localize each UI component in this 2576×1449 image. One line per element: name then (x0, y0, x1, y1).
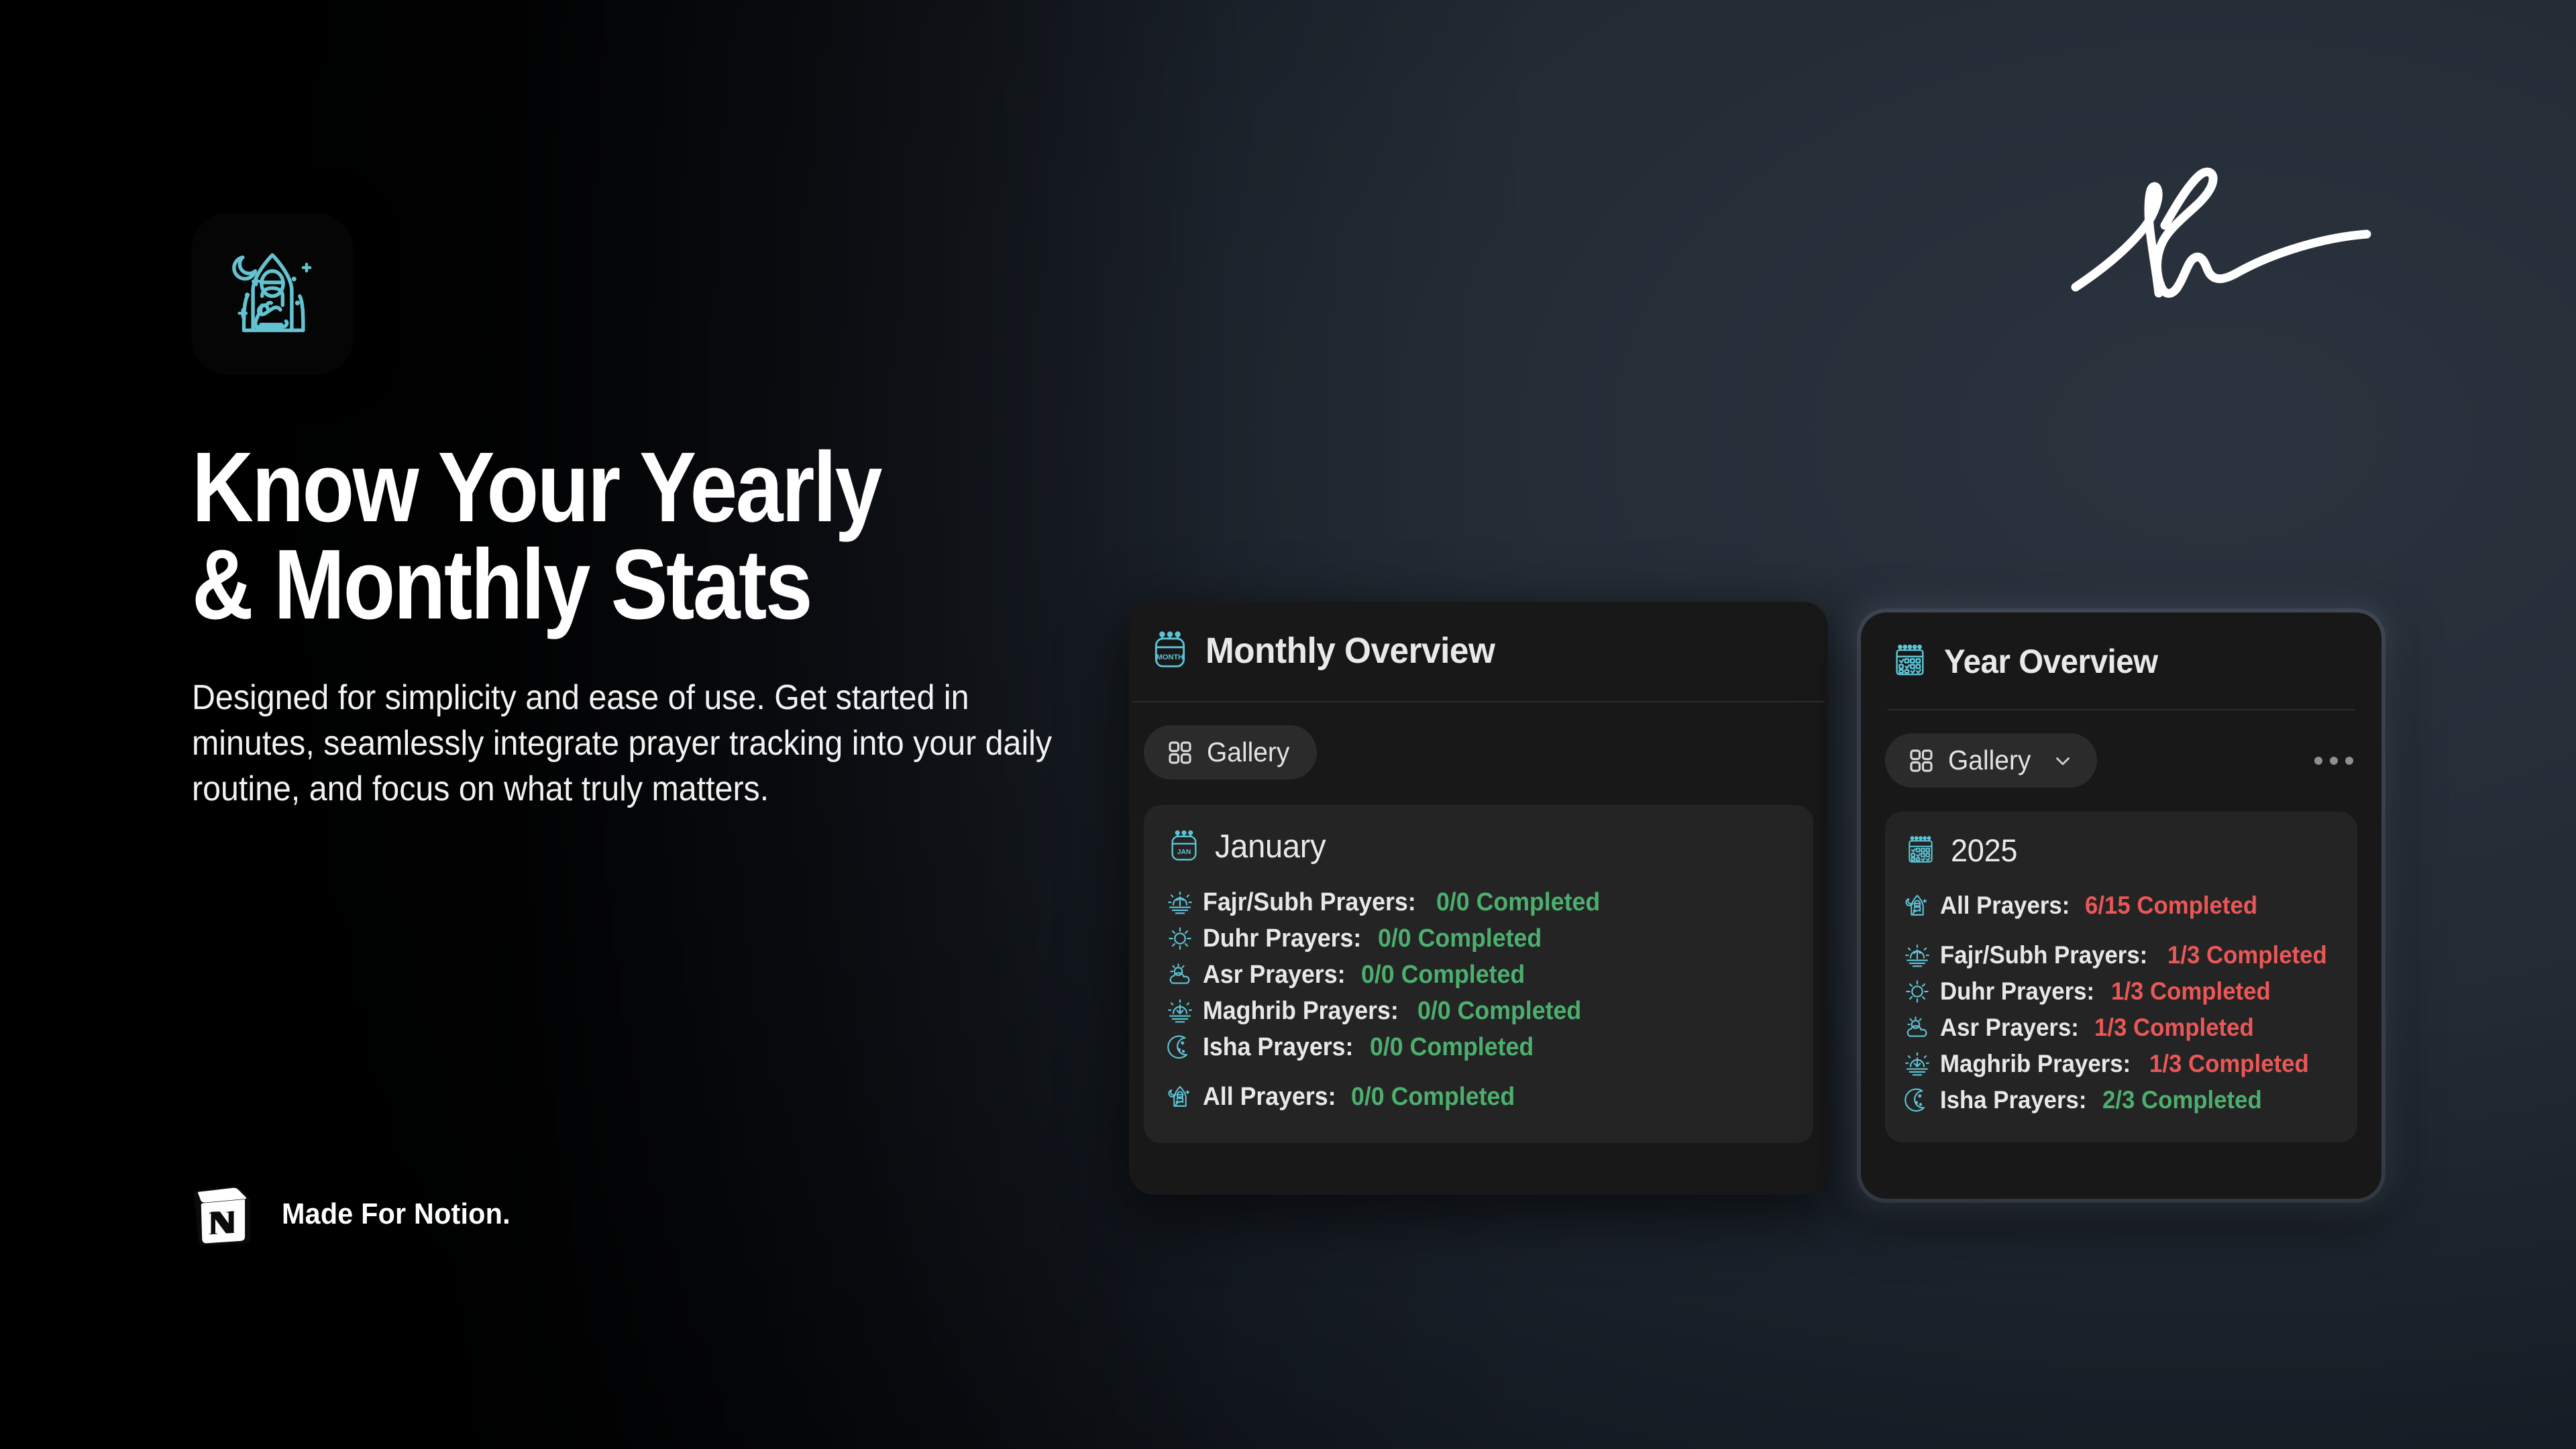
prayer-row: Fajr/Subh Prayers: 1/3 Completed (1904, 937, 2339, 973)
prayer-row: Fajr/Subh Prayers: 0/0 Completed (1167, 884, 1790, 920)
crescent-moon-icon (1167, 1034, 1193, 1061)
prayer-value: 2/3 Completed (2102, 1086, 2262, 1114)
year-2025-card[interactable]: 2025 All Prayers: 6/15 Completed (1885, 812, 2357, 1142)
year-panel-header: Year Overview (1861, 612, 2381, 681)
prayer-row: Maghrib Prayers: 0/0 Completed (1167, 993, 1790, 1029)
prayer-label: Asr Prayers: (1203, 961, 1345, 989)
prayer-label: Duhr Prayers: (1940, 977, 2094, 1006)
row-spacer (1167, 1065, 1790, 1079)
crescent-moon-icon (1904, 1087, 1931, 1114)
prayer-value: 0/0 Completed (1417, 997, 1581, 1026)
sun-cloud-icon (1167, 961, 1193, 988)
row-spacer (1904, 924, 2339, 937)
sunset-icon (1167, 998, 1193, 1024)
handwritten-signature-icon (2051, 156, 2400, 303)
monthly-panel-header: MONTH Monthly Overview (1129, 602, 1828, 672)
prayer-label: Isha Prayers: (1940, 1086, 2086, 1114)
year-panel-title: Year Overview (1944, 642, 2158, 681)
prayer-value: 1/3 Completed (2094, 1014, 2254, 1042)
prayer-label: Maghrib Prayers: (1203, 997, 1399, 1026)
monthly-gallery-label: Gallery (1207, 737, 1289, 768)
gallery-grid-icon (1908, 747, 1935, 774)
prayer-row: Isha Prayers: 0/0 Completed (1167, 1029, 1790, 1065)
jan-calendar-icon: JAN (1167, 829, 1201, 864)
prayer-row: All Prayers: 0/0 Completed (1167, 1079, 1790, 1115)
year-2025-card-title: 2025 (1951, 832, 2017, 869)
prayer-value: 0/0 Completed (1351, 1083, 1515, 1112)
mosque-person-icon (1904, 892, 1931, 919)
year-prayer-rows: All Prayers: 6/15 Completed Fajr/Subh Pr… (1904, 888, 2339, 1118)
prayer-value: 1/3 Completed (2149, 1050, 2309, 1078)
year-calendar-icon (1890, 642, 1929, 681)
year-2025-card-header: 2025 (1904, 832, 2339, 869)
year-panel-toolbar: Gallery (1861, 710, 2381, 788)
sun-icon (1167, 925, 1193, 952)
mosque-person-icon (1167, 1083, 1193, 1110)
prayer-label: Asr Prayers: (1940, 1014, 2079, 1042)
praying-person-mosque-icon (215, 237, 329, 351)
svg-text:JAN: JAN (1177, 849, 1191, 856)
prayer-value: 0/0 Completed (1378, 924, 1542, 953)
prayer-row: Isha Prayers: 2/3 Completed (1904, 1082, 2339, 1118)
prayer-row: Asr Prayers: 0/0 Completed (1167, 957, 1790, 993)
monthly-panel-toolbar: Gallery (1129, 702, 1828, 780)
year-gallery-view-button[interactable]: Gallery (1885, 733, 2097, 788)
prayer-label: Fajr/Subh Prayers: (1940, 941, 2147, 969)
monthly-overview-panel: MONTH Monthly Overview Gallery JAN Jan (1129, 602, 1828, 1195)
january-prayer-rows: Fajr/Subh Prayers: 0/0 Completed Duhr Pr… (1167, 884, 1790, 1115)
sun-icon (1904, 978, 1931, 1005)
january-card-header: JAN January (1167, 828, 1790, 865)
prayer-value: 0/0 Completed (1370, 1033, 1534, 1062)
year-gallery-label: Gallery (1948, 745, 2031, 776)
prayer-value: 1/3 Completed (2111, 977, 2271, 1006)
prayer-row: Duhr Prayers: 0/0 Completed (1167, 920, 1790, 957)
prayer-label: All Prayers: (1940, 892, 2070, 920)
sun-cloud-icon (1904, 1014, 1931, 1041)
gallery-grid-icon (1167, 739, 1193, 766)
monthly-gallery-view-button[interactable]: Gallery (1144, 725, 1317, 780)
prayer-value: 0/0 Completed (1361, 961, 1525, 989)
made-for-notion-badge: Made For Notion. (192, 1182, 525, 1246)
sunrise-icon (1167, 889, 1193, 916)
january-card-title: January (1215, 828, 1326, 865)
year-overview-panel: Year Overview Gallery (1861, 612, 2381, 1199)
more-options-icon[interactable] (2314, 757, 2357, 765)
svg-text:MONTH: MONTH (1157, 653, 1183, 661)
january-card[interactable]: JAN January Fajr/Subh Prayers: 0/0 Compl… (1144, 805, 1813, 1143)
prayer-row: Maghrib Prayers: 1/3 Completed (1904, 1046, 2339, 1082)
page-title: Know Your Yearly & Monthly Stats (192, 439, 1000, 633)
month-calendar-icon: MONTH (1149, 630, 1191, 672)
hero-section: Know Your Yearly & Monthly Stats Designe… (192, 213, 1131, 812)
sunset-icon (1904, 1051, 1931, 1077)
prayer-row: All Prayers: 6/15 Completed (1904, 888, 2339, 924)
made-for-notion-label: Made For Notion. (282, 1197, 511, 1231)
year-calendar-icon (1904, 834, 1937, 867)
signature (2051, 156, 2400, 303)
prayer-row: Duhr Prayers: 1/3 Completed (1904, 973, 2339, 1010)
monthly-panel-title: Monthly Overview (1205, 630, 1495, 672)
prayer-value: 6/15 Completed (2085, 892, 2257, 920)
prayer-value: 0/0 Completed (1436, 888, 1600, 917)
chevron-down-icon[interactable] (2051, 749, 2074, 772)
prayer-label: Duhr Prayers: (1203, 924, 1361, 953)
notion-logo-icon (192, 1182, 254, 1246)
prayer-label: All Prayers: (1203, 1083, 1336, 1112)
prayer-label: Maghrib Prayers: (1940, 1050, 2131, 1078)
sunrise-icon (1904, 942, 1931, 969)
app-icon (192, 213, 353, 374)
hero-description: Designed for simplicity and ease of use.… (192, 675, 1065, 812)
prayer-label: Fajr/Subh Prayers: (1203, 888, 1416, 917)
prayer-label: Isha Prayers: (1203, 1033, 1353, 1062)
prayer-row: Asr Prayers: 1/3 Completed (1904, 1010, 2339, 1046)
prayer-value: 1/3 Completed (2167, 941, 2327, 969)
